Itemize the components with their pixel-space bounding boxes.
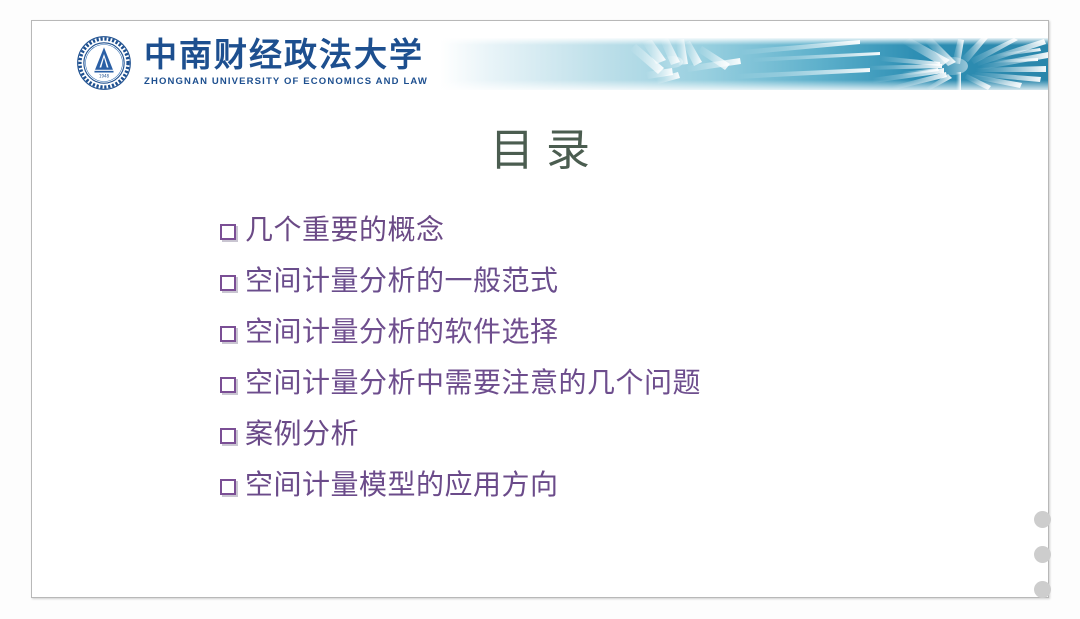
- edge-indicator-dot[interactable]: [1034, 581, 1051, 598]
- list-item[interactable]: 几个重要的概念: [220, 205, 1010, 256]
- slide-header: 1948 中南财经政法大学 ZHONGNAN UNIVERSITY OF ECO…: [32, 21, 1048, 97]
- logo-name-cn: 中南财经政法大学: [144, 39, 428, 74]
- list-item-label: 空间计量分析中需要注意的几个问题: [245, 370, 701, 398]
- logo-wordmark: 中南财经政法大学 ZHONGNAN UNIVERSITY OF ECONOMIC…: [144, 39, 428, 88]
- edge-indicator-dot[interactable]: [1034, 546, 1051, 563]
- university-seal-icon: 1948: [76, 35, 132, 91]
- hollow-square-bullet-icon: [220, 428, 236, 444]
- page-background: 1948 中南财经政法大学 ZHONGNAN UNIVERSITY OF ECO…: [0, 0, 1080, 619]
- logo-name-en: ZHONGNAN UNIVERSITY OF ECONOMICS AND LAW: [144, 76, 428, 87]
- list-item-label: 空间计量分析的软件选择: [245, 319, 559, 347]
- edge-indicator-dot[interactable]: [1034, 511, 1051, 528]
- list-item-label: 空间计量分析的一般范式: [245, 268, 559, 296]
- list-item[interactable]: 空间计量分析的软件选择: [220, 307, 1010, 358]
- banner-top-glow: [440, 38, 1048, 45]
- list-item-label: 几个重要的概念: [245, 217, 445, 245]
- svg-text:1948: 1948: [99, 74, 109, 79]
- list-item[interactable]: 空间计量模型的应用方向: [220, 460, 1010, 511]
- hollow-square-bullet-icon: [220, 377, 236, 393]
- hollow-square-bullet-icon: [220, 326, 236, 342]
- hollow-square-bullet-icon: [220, 224, 236, 240]
- list-item-label: 案例分析: [245, 421, 359, 449]
- list-item[interactable]: 空间计量分析的一般范式: [220, 256, 1010, 307]
- slide-canvas: 1948 中南财经政法大学 ZHONGNAN UNIVERSITY OF ECO…: [31, 20, 1049, 598]
- toc-list: 几个重要的概念 空间计量分析的一般范式 空间计量分析的软件选择 空间计量分析中需…: [220, 205, 1010, 511]
- hollow-square-bullet-icon: [220, 275, 236, 291]
- page-title: 目录: [32, 129, 1048, 173]
- list-item[interactable]: 案例分析: [220, 409, 1010, 460]
- header-banner-decoration: [440, 38, 1048, 90]
- list-item[interactable]: 空间计量分析中需要注意的几个问题: [220, 358, 1010, 409]
- banner-bottom-glow: [440, 80, 1048, 90]
- list-item-label: 空间计量模型的应用方向: [245, 472, 559, 500]
- hollow-square-bullet-icon: [220, 479, 236, 495]
- university-logo: 1948 中南财经政法大学 ZHONGNAN UNIVERSITY OF ECO…: [76, 32, 428, 94]
